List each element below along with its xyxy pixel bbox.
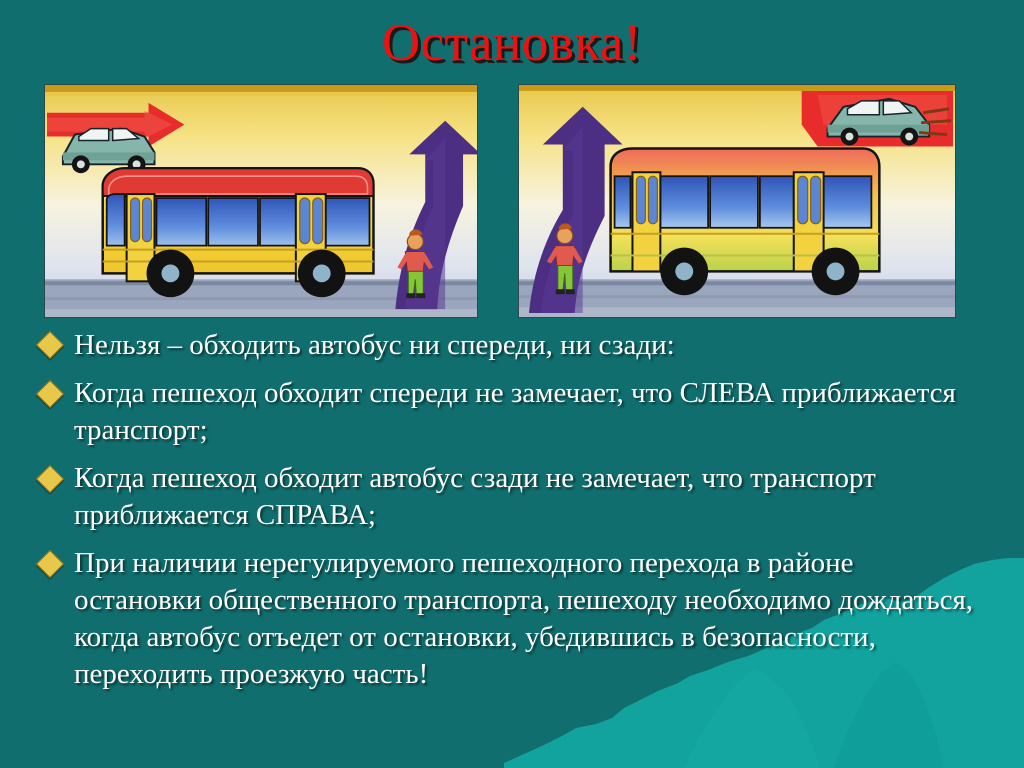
illustration-front-crossing (44, 84, 478, 318)
illustration-rear-crossing (518, 84, 956, 318)
list-item-text: Когда пешеход обходит автобус сзади не з… (74, 460, 984, 534)
list-item: Когда пешеход обходит спереди не замечае… (34, 375, 984, 449)
diamond-bullet-icon (36, 331, 64, 359)
list-item-text: При наличии нерегулируемого пешеходного … (74, 545, 984, 693)
list-item-text: Когда пешеход обходит спереди не замечае… (74, 375, 984, 449)
presentation-slide: Остановка! (0, 0, 1024, 768)
bus-scene-rear-svg (519, 85, 955, 317)
list-item: При наличии нерегулируемого пешеходного … (34, 545, 984, 693)
list-item-text: Нельзя – обходить автобус ни спереди, ни… (74, 326, 984, 364)
list-item: Нельзя – обходить автобус ни спереди, ни… (34, 326, 984, 364)
diamond-bullet-icon (36, 465, 64, 493)
page-title: Остановка! (0, 14, 1024, 72)
diamond-bullet-icon (36, 380, 64, 408)
diamond-bullet-icon (36, 550, 64, 578)
bullet-list: Нельзя – обходить автобус ни спереди, ни… (34, 326, 984, 704)
list-item: Когда пешеход обходит автобус сзади не з… (34, 460, 984, 534)
bus-scene-front-svg (45, 85, 477, 317)
